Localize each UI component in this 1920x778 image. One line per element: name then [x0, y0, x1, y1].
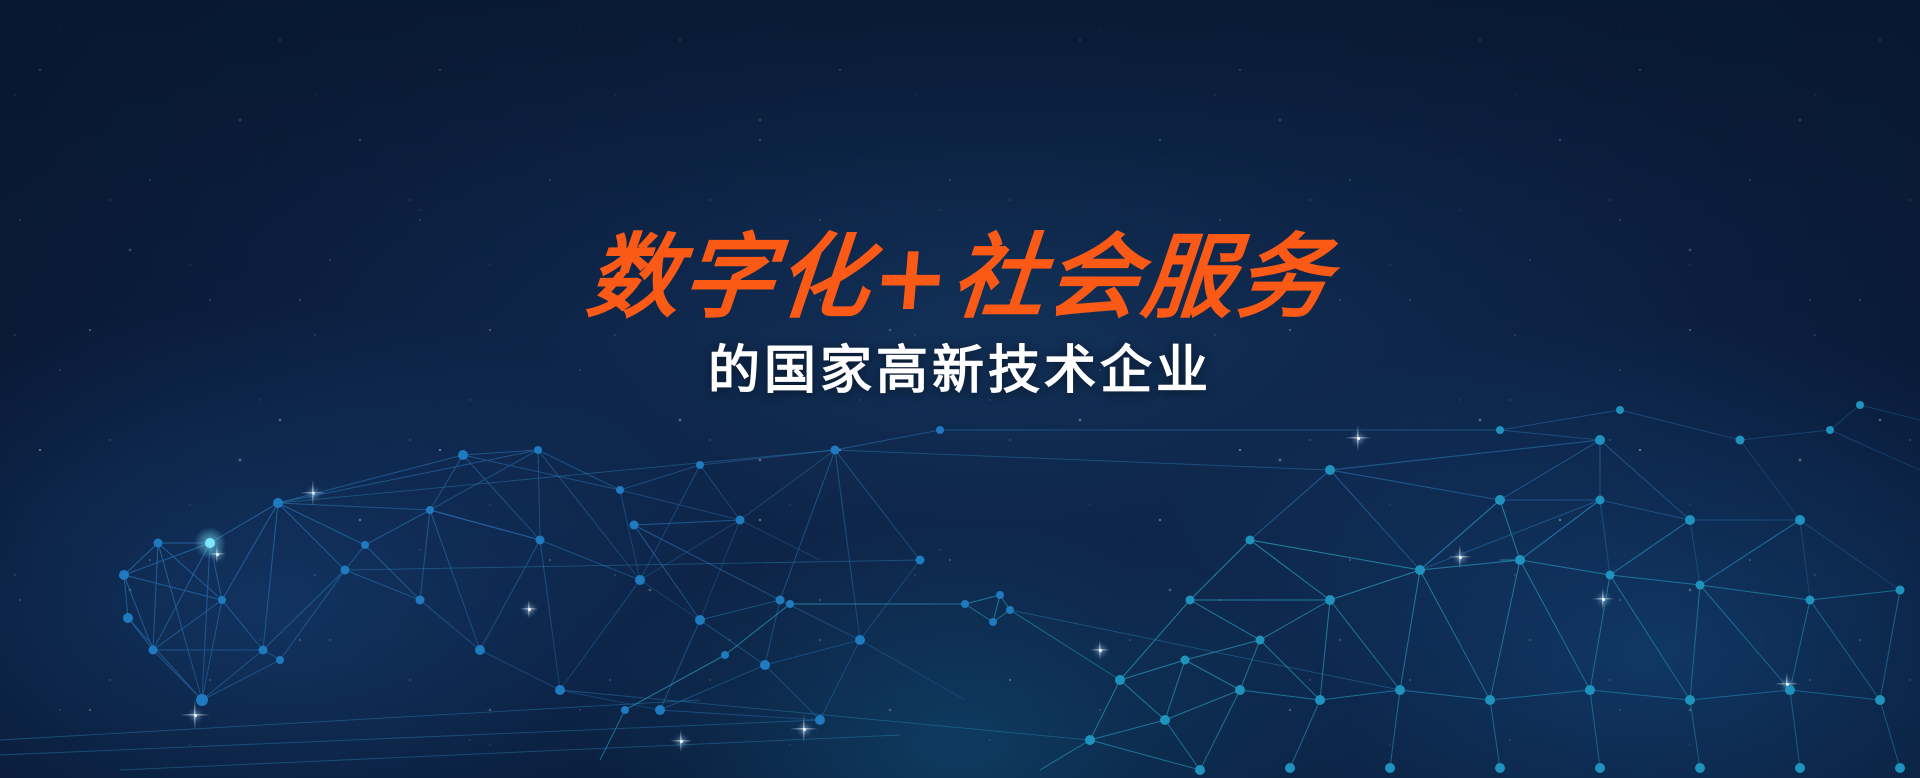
hero-banner: 数字化+社会服务 的国家高新技术企业	[0, 0, 1920, 778]
page-title: 数字化+社会服务	[0, 228, 1920, 327]
page-subtitle: 的国家高新技术企业	[0, 340, 1920, 402]
